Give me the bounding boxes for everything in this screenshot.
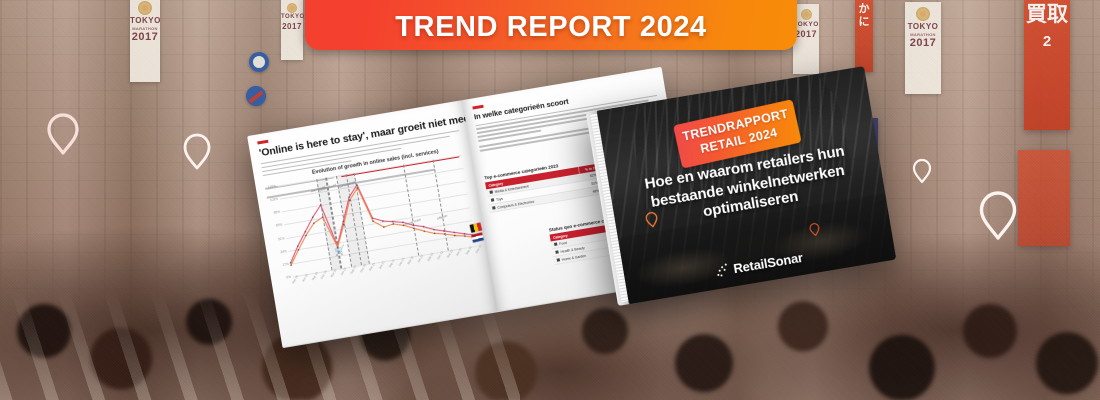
no-parking-road-sign — [246, 86, 266, 106]
chart-y-tick: 34% — [280, 249, 287, 254]
sign-line-3: 2017 — [281, 22, 303, 32]
sign-line-1: TOKYO — [905, 22, 941, 32]
category-icon — [554, 243, 557, 246]
category-icon — [492, 206, 495, 209]
trend-report-hero-banner: TOKYO MARATHON 2017 TOKYO 2017 TOKYO 201… — [0, 0, 1100, 400]
chart-data-point — [392, 221, 394, 223]
tokyo-marathon-banner-3: TOKYO MARATHON 2017 — [905, 2, 941, 94]
no-turn-road-sign — [249, 52, 269, 72]
marathon-emblem-icon — [138, 1, 152, 15]
row-label: Food — [559, 241, 567, 246]
map-pin-icon-1 — [46, 112, 80, 156]
tokyo-marathon-banner-1: TOKYO MARATHON 2017 — [130, 0, 160, 82]
shopping-cart-icon: 🛒 — [334, 246, 347, 257]
chart-y-tick: 120% — [267, 184, 276, 189]
chart-data-point — [464, 233, 466, 235]
tokyo-marathon-banner-2: TOKYO 2017 — [281, 0, 303, 60]
chart-data-point — [453, 231, 455, 233]
belgium-flag-icon — [470, 222, 483, 232]
row-label: Toys — [496, 196, 504, 201]
chart-data-point — [454, 235, 456, 237]
chart-legend-flags — [470, 223, 484, 245]
chart-plot-area: 0%17%34%51%69%86%103%120%Mar 19Jun 19Sep… — [278, 155, 477, 276]
category-icon — [555, 251, 558, 254]
category-icon — [491, 198, 494, 201]
kani-sign: かに — [855, 0, 873, 72]
kaitori-sign: 買取 2 — [1024, 0, 1070, 130]
chart-y-tick: 17% — [282, 262, 289, 267]
chart-series-layer — [278, 155, 477, 276]
row-label: Home & Garden — [561, 254, 586, 262]
marathon-emblem-icon — [916, 7, 930, 21]
shop-sign-red-lower — [1018, 150, 1070, 246]
category-icon — [557, 258, 560, 261]
sign-line-3: 2017 — [130, 31, 160, 45]
chart-data-point — [464, 235, 466, 237]
kani-text: かに — [855, 3, 873, 28]
radar-dots-icon — [716, 263, 731, 278]
chart-y-tick: 69% — [276, 223, 283, 228]
category-icon — [490, 191, 493, 194]
map-pin-icon-2 — [182, 132, 212, 171]
chart-y-tick: 51% — [278, 236, 285, 241]
map-pin-icon-4 — [978, 190, 1018, 241]
sign-line-2: MARATHON — [130, 26, 160, 31]
kaitori-number: 2 — [1024, 33, 1070, 50]
sign-line-2: MARATHON — [905, 32, 941, 37]
trend-report-title-banner: TREND REPORT 2024 — [305, 0, 797, 50]
netherlands-flag-icon — [471, 232, 484, 242]
accent-bar — [472, 105, 483, 109]
map-pin-icon-3 — [912, 158, 932, 184]
chart-y-tick: 103% — [270, 197, 279, 202]
magazine-left-page: 'Online is here to stay', maar groeit ni… — [247, 100, 497, 348]
accent-bar — [257, 140, 268, 144]
banner-title: TREND REPORT 2024 — [395, 11, 707, 44]
marathon-emblem-icon — [287, 3, 297, 13]
marathon-emblem-icon — [801, 9, 812, 20]
sign-line-3: 2017 — [905, 37, 941, 51]
chart-y-tick: 86% — [273, 210, 280, 215]
kaitori-text: 買取 — [1024, 3, 1070, 27]
chart-y-tick: 0% — [286, 275, 291, 280]
sign-line-1: TOKYO — [281, 14, 303, 22]
sign-line-1: TOKYO — [130, 16, 160, 26]
chart-data-point — [443, 230, 445, 232]
chart-data-point — [444, 233, 446, 235]
